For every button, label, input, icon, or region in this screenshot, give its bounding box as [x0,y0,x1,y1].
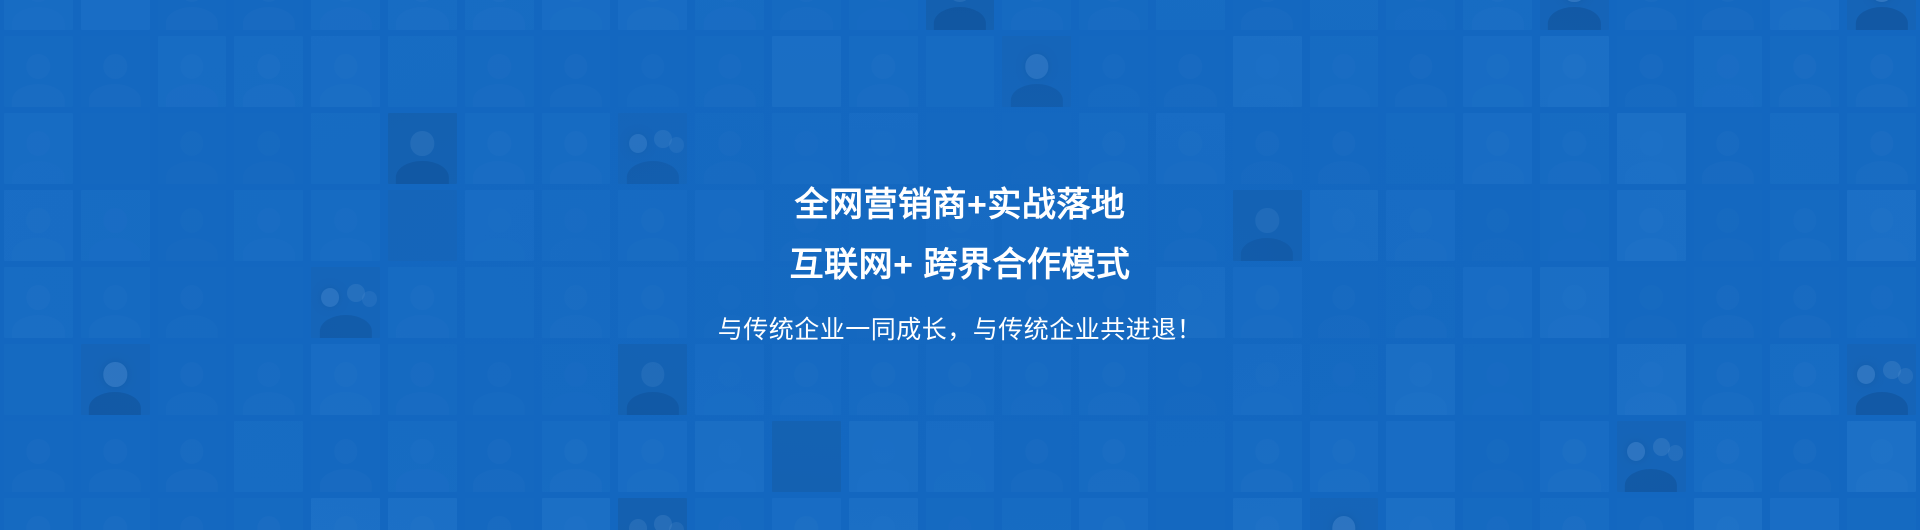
banner-subtitle: 与传统企业一同成长，与传统企业共进退！ [718,318,1203,343]
banner-copy: 全网营销商+实战落地 互联网+ 跨界合作模式 与传统企业一同成长，与传统企业共进… [0,0,1920,530]
banner-headline-line-1: 全网营销商+实战落地 [795,188,1126,222]
hero-banner: 全网营销商+实战落地 互联网+ 跨界合作模式 与传统企业一同成长，与传统企业共进… [0,0,1920,530]
banner-headline-line-2: 互联网+ 跨界合作模式 [790,248,1131,282]
